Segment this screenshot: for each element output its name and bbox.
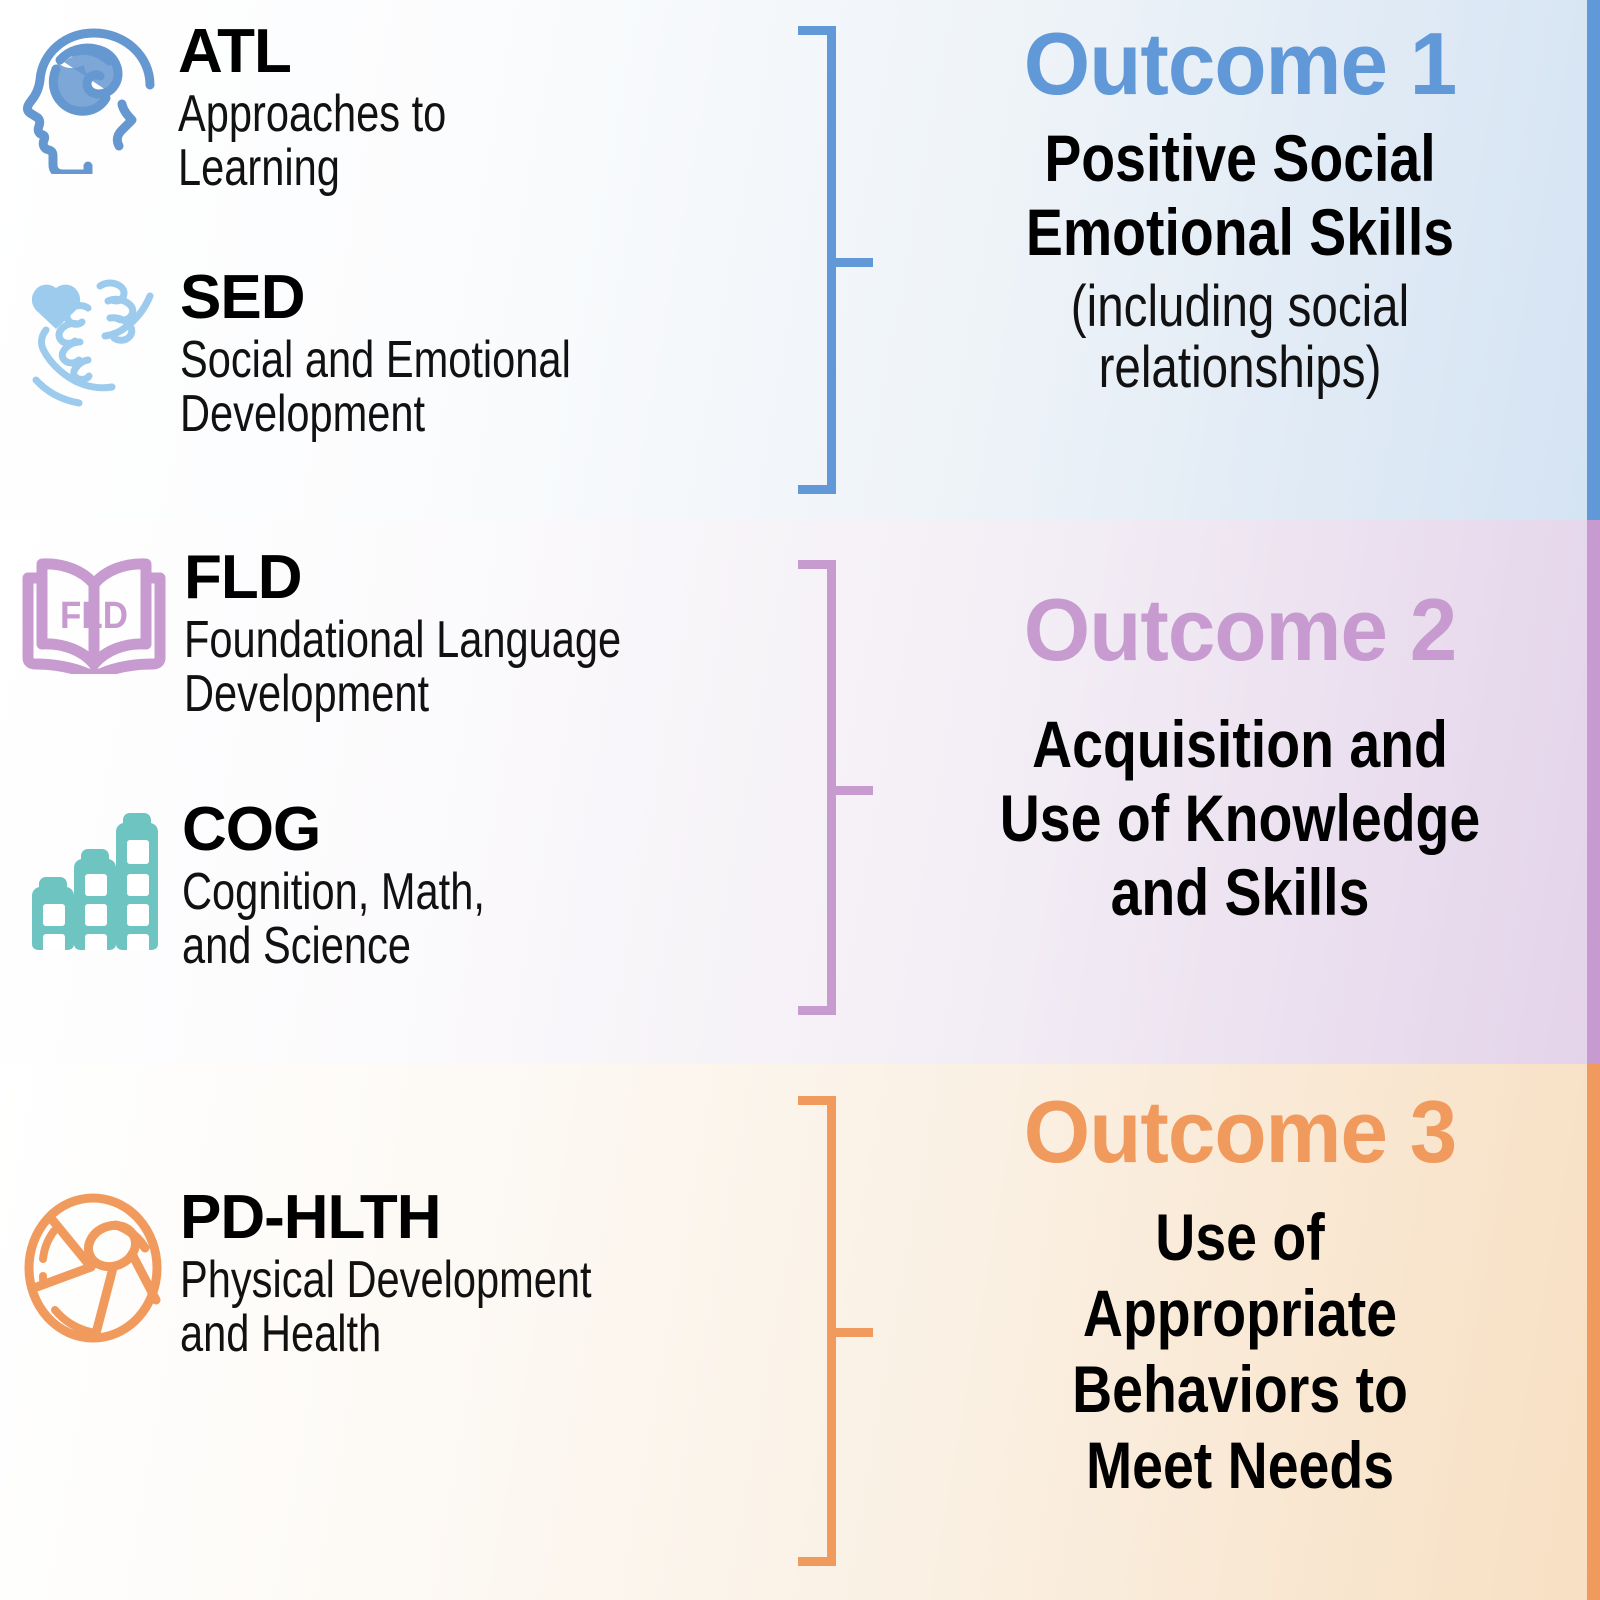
outcome-heading-2: Acquisition and Use of Knowledge and Ski… <box>946 708 1534 930</box>
domain-text-pd-hlth: PD-HLTH Physical Development and Health <box>180 1188 694 1361</box>
domain-code-atl: ATL <box>178 17 291 86</box>
outcome-block-2: Outcome 2 Acquisition and Use of Knowled… <box>890 586 1590 936</box>
domain-item-pd-hlth[interactable]: PD-HLTH Physical Development and Health <box>20 1188 694 1361</box>
domain-text-atl: ATL Approaches to Learning <box>178 22 513 195</box>
open-book-icon: FLD <box>14 548 174 679</box>
svg-text:FLD: FLD <box>60 594 128 637</box>
outcome-block-1: Outcome 1 Positive Social Emotional Skil… <box>890 20 1590 399</box>
bar-chart-icon <box>12 800 172 955</box>
domain-item-cog[interactable]: COG Cognition, Math, and Science <box>12 800 561 973</box>
beach-ball-icon <box>20 1188 170 1353</box>
domain-description-fld: Foundational Language Development <box>184 613 621 721</box>
outcome-label-3: Outcome 3 <box>901 1088 1580 1176</box>
domain-code-sed: SED <box>180 263 304 332</box>
domain-text-fld: FLD Foundational Language Development <box>184 548 730 721</box>
outcome-label-2: Outcome 2 <box>901 586 1580 674</box>
domain-code-fld: FLD <box>184 543 302 612</box>
domain-code-cog: COG <box>182 795 320 864</box>
domain-description-atl: Approaches to Learning <box>178 87 446 195</box>
domain-item-fld[interactable]: FLD FLD Foundational Language Developmen… <box>14 548 730 721</box>
outcome-heading-1: Positive Social Emotional Skills <box>946 122 1534 270</box>
outcome-block-3: Outcome 3 Use of Appropriate Behaviors t… <box>890 1088 1590 1510</box>
domain-text-sed: SED Social and Emotional Development <box>180 268 669 441</box>
outcome-heading-3: Use of Appropriate Behaviors to Meet Nee… <box>946 1200 1534 1504</box>
domain-item-atl[interactable]: ATL Approaches to Learning <box>18 22 513 195</box>
brain-head-icon <box>18 22 168 179</box>
domain-item-sed[interactable]: SED Social and Emotional Development <box>22 268 669 441</box>
domain-description-sed: Social and Emotional Development <box>180 333 571 441</box>
domain-text-cog: COG Cognition, Math, and Science <box>182 800 561 973</box>
domain-code-pd-hlth: PD-HLTH <box>180 1183 440 1252</box>
infographic-canvas: ATL Approaches to Learning <box>0 0 1600 1600</box>
outcome-label-1: Outcome 1 <box>901 20 1580 108</box>
domain-description-cog: Cognition, Math, and Science <box>182 865 485 973</box>
domain-description-pd-hlth: Physical Development and Health <box>180 1253 592 1361</box>
clasped-hands-heart-icon <box>22 268 170 419</box>
outcome-subtext-1: (including social relationships) <box>953 276 1527 399</box>
